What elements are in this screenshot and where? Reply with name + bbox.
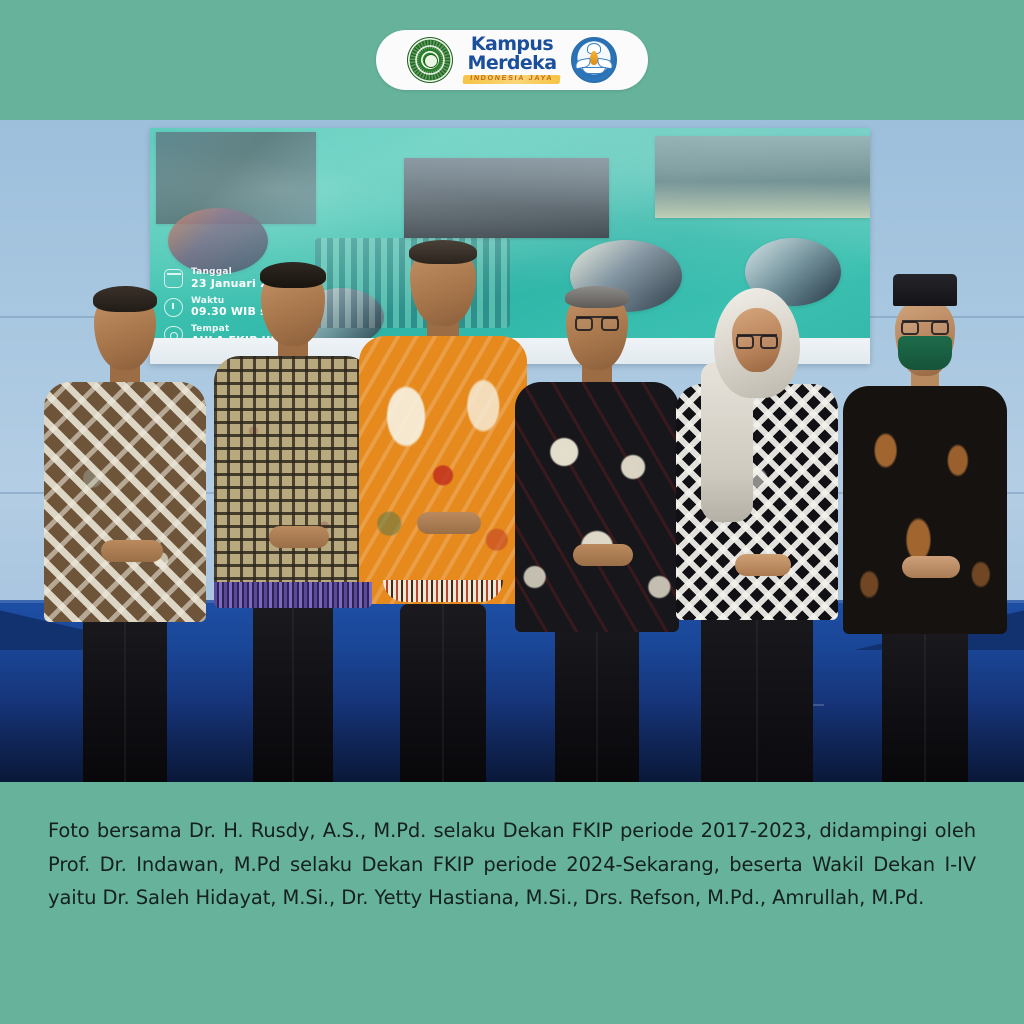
person-3-hair xyxy=(409,240,477,264)
person-3-batik-shirt xyxy=(359,336,527,604)
person-4-hands xyxy=(573,544,633,566)
group-photo: Tanggal 23 Januari 2024 Waktu 09.30 WIB … xyxy=(0,120,1024,782)
person-1-hands xyxy=(101,540,163,562)
ministry-seal-icon xyxy=(571,37,617,83)
person-6-batik-shirt xyxy=(843,386,1007,634)
person-1-batik-shirt xyxy=(44,382,206,622)
person-2-fringe-trim xyxy=(214,582,372,608)
person-4-batik-shirt xyxy=(515,382,679,632)
person-6-face-mask xyxy=(898,336,952,370)
person-2-hair xyxy=(260,262,326,288)
person-1-hair xyxy=(93,286,157,312)
wordmark-line-2: Merdeka xyxy=(468,55,557,72)
person-4-glasses-icon xyxy=(576,316,618,325)
seal-flame-shape xyxy=(590,51,598,65)
caption-block: Foto bersama Dr. H. Rusdy, A.S., M.Pd. s… xyxy=(0,782,1024,1024)
logo-bar: Kampus Merdeka INDONESIA JAYA xyxy=(0,0,1024,120)
person-3-fringe-trim xyxy=(383,580,503,602)
person-2-hands xyxy=(269,526,329,548)
banner-photo-top-right xyxy=(655,136,870,218)
university-seal-icon xyxy=(407,37,453,83)
person-6 xyxy=(840,260,1010,782)
seal-base-shape xyxy=(582,67,606,74)
person-1-legs xyxy=(83,604,167,782)
person-4 xyxy=(512,242,682,782)
person-3-legs xyxy=(400,604,486,782)
person-3-hands xyxy=(417,512,481,534)
person-3 xyxy=(358,212,528,782)
person-6-glasses-icon xyxy=(902,320,948,329)
person-6-legs xyxy=(882,620,968,782)
person-4-legs xyxy=(555,610,639,782)
wordmark-tagline: INDONESIA JAYA xyxy=(463,75,561,84)
person-5-hands xyxy=(735,554,791,576)
poster-root: Kampus Merdeka INDONESIA JAYA xyxy=(0,0,1024,1024)
person-1 xyxy=(40,240,210,782)
logo-pill: Kampus Merdeka INDONESIA JAYA xyxy=(376,30,648,90)
person-5 xyxy=(672,242,842,782)
person-5-skirt xyxy=(701,592,813,782)
person-2 xyxy=(213,226,373,782)
person-2-legs xyxy=(253,602,333,782)
person-2-batik-shirt xyxy=(214,356,372,606)
person-5-glasses-icon xyxy=(737,334,777,343)
person-6-peci-cap xyxy=(893,274,957,306)
caption-text: Foto bersama Dr. H. Rusdy, A.S., M.Pd. s… xyxy=(48,814,976,915)
wordmark-line-1: Kampus xyxy=(471,36,553,53)
kampus-merdeka-wordmark: Kampus Merdeka INDONESIA JAYA xyxy=(463,36,560,84)
person-6-hands xyxy=(902,556,960,578)
person-4-hair xyxy=(565,286,629,308)
